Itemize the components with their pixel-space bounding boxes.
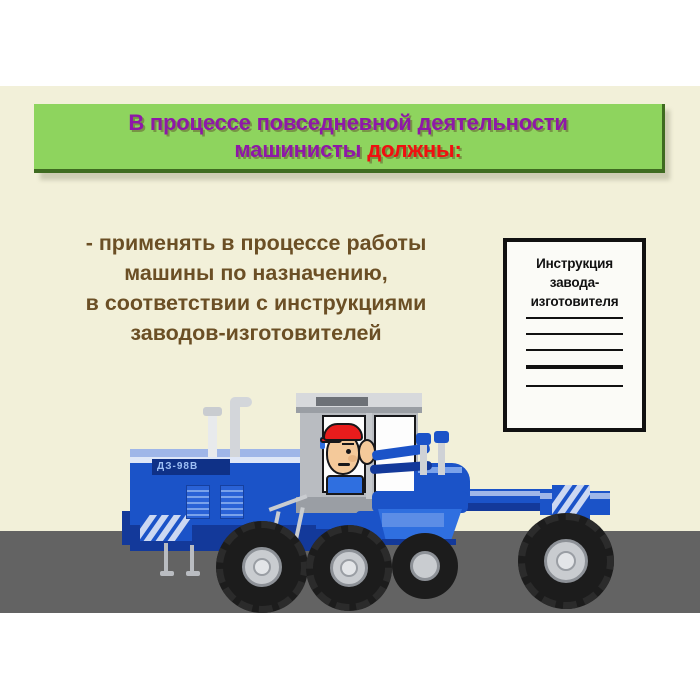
banner-line-2-part-1: машинисты <box>234 137 367 162</box>
document-title-line-2: завода- <box>517 273 632 292</box>
banner-line-1: В процессе повседневной деятельности <box>128 109 567 136</box>
operator-cap <box>323 423 363 441</box>
banner-line-2-part-2: должны: <box>367 137 461 162</box>
body-text-line-2: машины по назначению, <box>36 258 476 288</box>
document-rule-line <box>526 349 623 351</box>
grader-wheel-hub <box>253 558 271 576</box>
grader-rear-support-leg <box>190 545 194 573</box>
grader-radiator-grille <box>220 485 244 519</box>
document-title-line-1: Инструкция <box>517 254 632 273</box>
document-rule-line <box>526 385 623 387</box>
operator-torso <box>326 475 364 495</box>
grader-wheel-hub <box>556 551 576 571</box>
grader-cab-roof-shadow <box>296 407 422 413</box>
grader-air-intake-pipe <box>230 399 240 457</box>
grader-exhaust-cap <box>203 407 222 416</box>
grader-engine-roof <box>130 449 326 457</box>
grader-wheel-hub <box>340 559 358 577</box>
body-text-line-4: заводов-изготовителей <box>36 318 476 348</box>
document-rule-lines <box>517 317 632 387</box>
slide-canvas: В процессе повседневной деятельности маш… <box>0 0 700 700</box>
grader-hydraulic-cylinder <box>420 441 427 475</box>
grader-blade-highlight <box>382 513 444 527</box>
document-title: Инструкция завода- изготовителя <box>517 254 632 311</box>
grader-model-plate-text: ДЗ-98В <box>157 461 198 472</box>
document-rule-line-thick <box>526 365 623 369</box>
document-rule-line <box>526 333 623 335</box>
body-text-block: - применять в процессе работы машины по … <box>36 228 476 348</box>
operator-eye <box>346 449 351 454</box>
operator-eyebrow <box>342 443 354 445</box>
grader-rear-hazard-stripes <box>140 515 192 541</box>
grader-cylinder-mount <box>416 433 431 445</box>
motor-grader-illustration: ДЗ-98В <box>120 393 590 615</box>
document-title-line-3: изготовителя <box>517 292 632 311</box>
title-banner: В процессе повседневной деятельности маш… <box>34 104 665 173</box>
grader-support-foot <box>186 571 200 576</box>
document-rule-line <box>526 317 623 319</box>
grader-cab-label-strip <box>316 397 368 406</box>
grader-air-intake-bend <box>230 397 252 407</box>
grader-support-foot <box>160 571 174 576</box>
grader-exhaust-pipe <box>208 413 217 457</box>
grader-wheel-rim <box>410 551 440 581</box>
grader-cylinder-mount <box>434 431 449 443</box>
body-text-line-3: в соответствии с инструкциями <box>36 288 476 318</box>
grader-hydraulic-cylinder <box>438 439 445 475</box>
operator-mouth <box>338 463 350 466</box>
body-text-line-1: - применять в процессе работы <box>36 228 476 258</box>
grader-rear-support-leg <box>164 543 168 573</box>
grader-model-plate: ДЗ-98В <box>152 459 230 475</box>
banner-line-2: машинисты должны: <box>234 136 461 163</box>
grader-radiator-grille <box>186 485 210 519</box>
operator-nose <box>348 455 357 462</box>
